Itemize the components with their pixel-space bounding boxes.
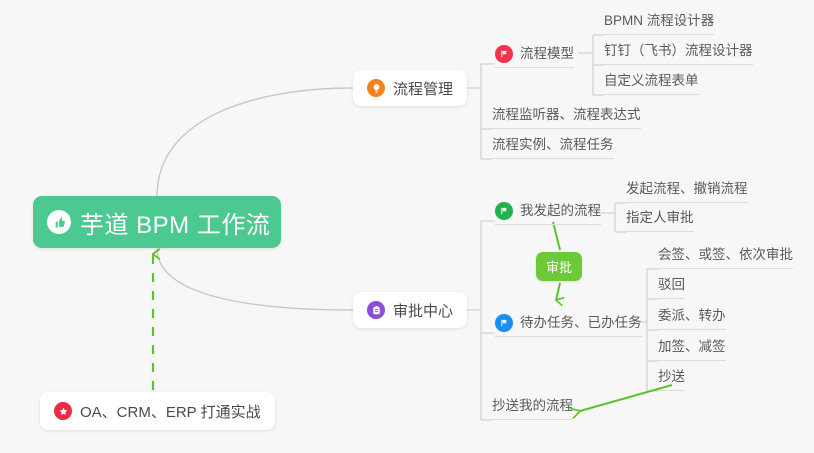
leaf-assignee-approval[interactable]: 指定人审批 <box>626 209 694 232</box>
leaf-custom-process-form[interactable]: 自定义流程表单 <box>604 72 699 95</box>
leaf-label: 流程监听器、流程表达式 <box>492 107 641 122</box>
star-icon <box>54 402 72 420</box>
arrow-approval-to-todo <box>556 283 560 300</box>
branch-node-process-management[interactable]: 流程管理 <box>353 70 467 106</box>
root-node[interactable]: 芋道 BPM 工作流 <box>33 196 281 248</box>
subnode-label-process-model: 流程模型 <box>520 45 574 63</box>
leaf-delegate-transfer[interactable]: 委派、转办 <box>658 307 726 330</box>
flag-icon <box>495 45 513 63</box>
flag-icon <box>495 202 513 220</box>
leaf-process-listener-expression[interactable]: 流程监听器、流程表达式 <box>492 106 641 129</box>
subnode-process-model[interactable]: 流程模型 <box>495 45 574 68</box>
leaf-label: 抄送 <box>658 369 685 384</box>
arrow-initiated-to-approval <box>553 222 560 250</box>
leaf-label: 自定义流程表单 <box>604 73 699 88</box>
subnode-label-todo-done: 待办任务、已办任务 <box>520 314 642 332</box>
link-root-to-approval-center <box>157 248 353 310</box>
leaf-label: 加签、减签 <box>658 339 726 354</box>
approval-callout-label: 审批 <box>546 257 572 276</box>
lightbulb-icon <box>367 79 385 97</box>
leaf-label: 委派、转办 <box>658 308 726 323</box>
leaf-process-instance-task[interactable]: 流程实例、流程任务 <box>492 136 614 159</box>
leaf-add-remove-sign[interactable]: 加签、减签 <box>658 338 726 361</box>
subnode-todo-done-tasks[interactable]: 待办任务、已办任务 <box>495 314 642 337</box>
branch-label-approval-center: 审批中心 <box>393 300 453 321</box>
branch-label-process-management: 流程管理 <box>393 78 453 99</box>
branch-node-approval-center[interactable]: 审批中心 <box>353 292 467 328</box>
flag-icon <box>495 314 513 332</box>
leaf-label: BPMN 流程设计器 <box>604 13 714 28</box>
leaf-reject[interactable]: 驳回 <box>658 276 685 299</box>
subnode-my-initiated-processes[interactable]: 我发起的流程 <box>495 202 601 225</box>
leaf-label: 流程实例、流程任务 <box>492 137 614 152</box>
leaf-carbon-copy[interactable]: 抄送 <box>658 368 685 391</box>
leaf-label: 指定人审批 <box>626 210 694 225</box>
clipboard-icon <box>367 301 385 319</box>
leaf-cc-to-me-processes[interactable]: 抄送我的流程 <box>492 397 573 420</box>
leaf-start-cancel-process[interactable]: 发起流程、撤销流程 <box>626 180 748 203</box>
integration-node-label: OA、CRM、ERP 打通实战 <box>80 401 261 422</box>
integration-node[interactable]: OA、CRM、ERP 打通实战 <box>40 392 275 430</box>
leaf-label: 会签、或签、依次审批 <box>658 247 793 262</box>
leaf-label: 驳回 <box>658 277 685 292</box>
leaf-dingtalk-feishu-designer[interactable]: 钉钉（飞书）流程设计器 <box>604 42 753 65</box>
subnode-label-my-initiated: 我发起的流程 <box>520 202 601 220</box>
link-root-to-process-management <box>157 88 353 196</box>
leaf-countersign-orsign-sequential[interactable]: 会签、或签、依次审批 <box>658 246 793 269</box>
root-label: 芋道 BPM 工作流 <box>80 205 270 240</box>
leaf-label: 钉钉（飞书）流程设计器 <box>604 43 753 58</box>
approval-callout: 审批 <box>536 252 582 281</box>
leaf-label: 发起流程、撤销流程 <box>626 181 748 196</box>
leaf-bpmn-designer[interactable]: BPMN 流程设计器 <box>604 12 714 35</box>
leaf-label: 抄送我的流程 <box>492 398 573 413</box>
thumbs-up-icon <box>47 210 71 234</box>
mindmap-canvas: 芋道 BPM 工作流 流程管理 流程模型 BPMN 流程设计器 钉钉（飞书）流程… <box>0 0 814 453</box>
